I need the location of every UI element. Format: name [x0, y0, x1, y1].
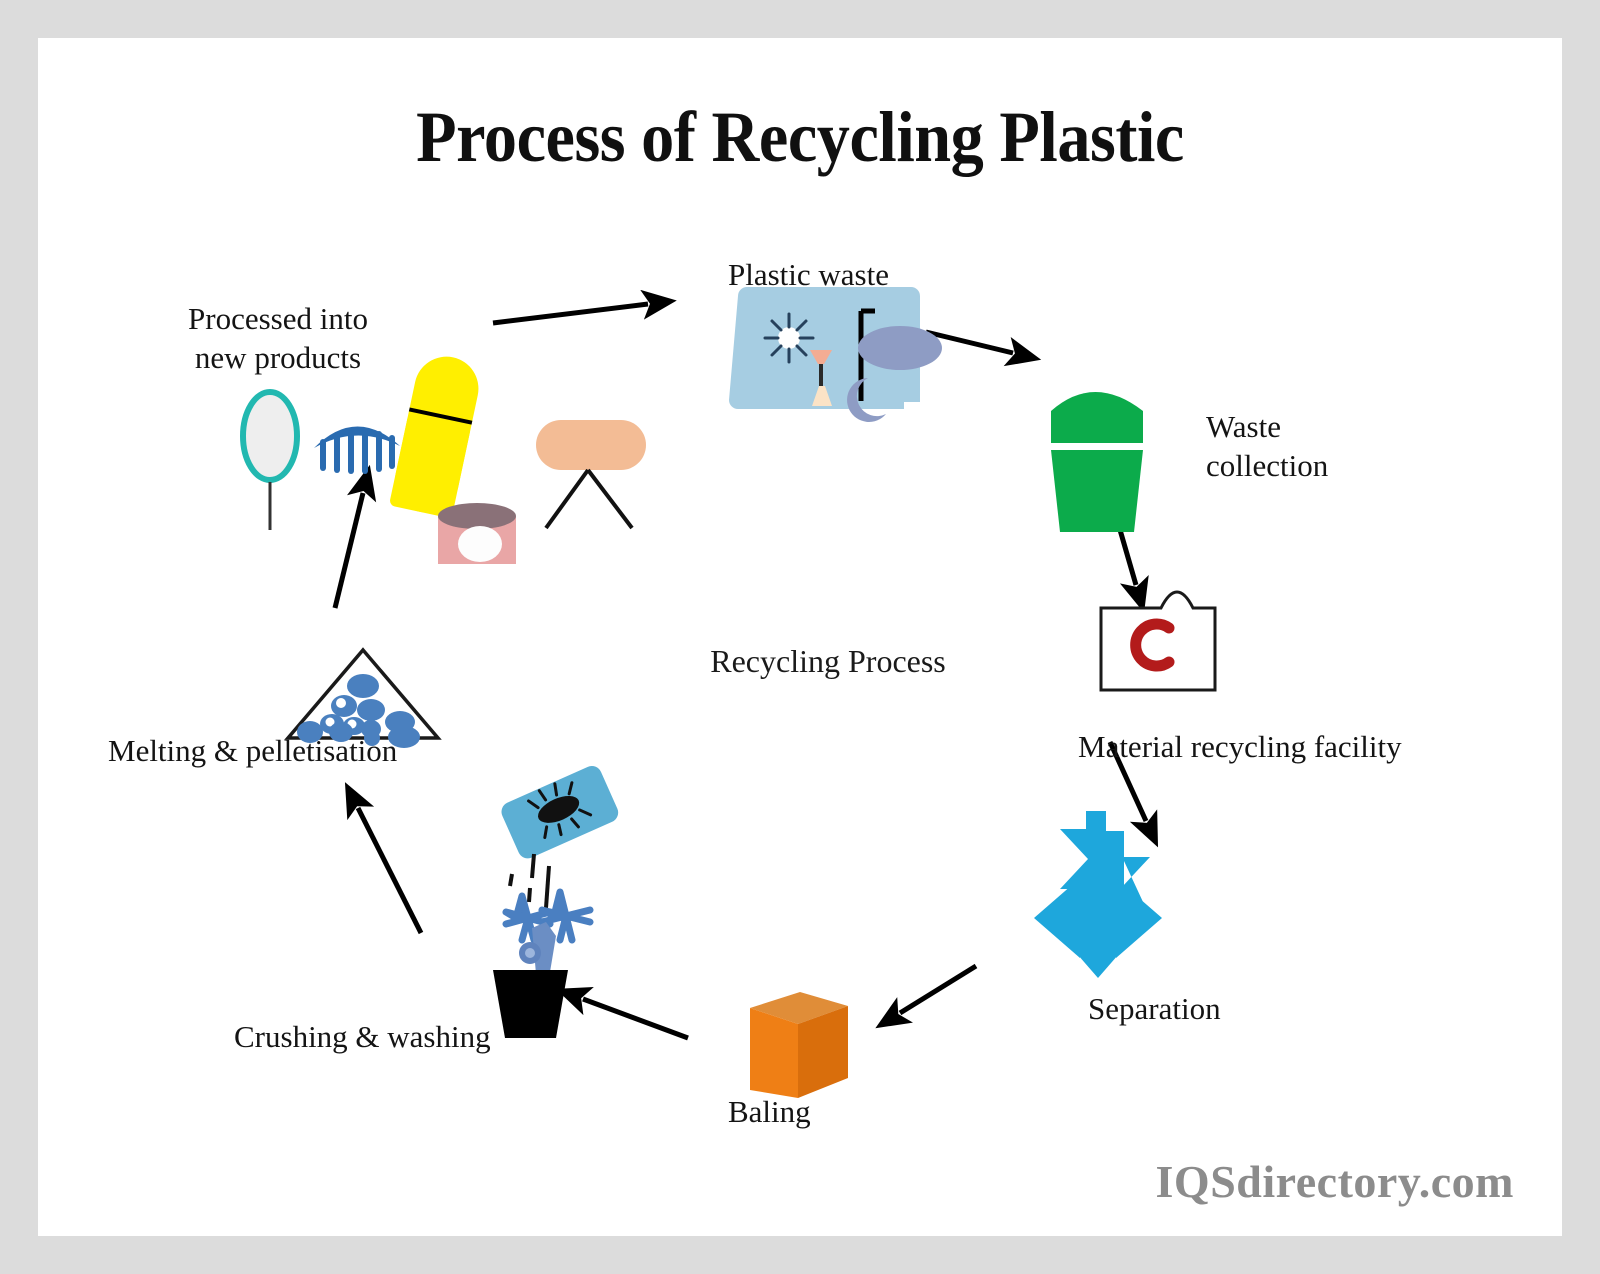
recycling-facility-box-icon[interactable] [1101, 592, 1215, 690]
arrow-baling-to-crushing [583, 999, 688, 1038]
center-label: Recycling Process [648, 643, 1008, 680]
starburst-icon [765, 314, 813, 362]
falling-drops [510, 854, 549, 908]
label-melting-pelletisation: Melting & pelletisation [108, 732, 397, 771]
orange-bale-cube-icon[interactable] [750, 992, 848, 1098]
facility-box [1101, 592, 1215, 690]
green-waste-bin-icon[interactable] [1051, 392, 1143, 532]
label-material-recycling-facility: Material recycling facility [1078, 728, 1402, 767]
comb-icon [314, 426, 400, 471]
label-baling: Baling [728, 1093, 811, 1132]
four-way-arrow-icon[interactable] [1034, 811, 1162, 978]
label-separation: Separation [1088, 990, 1221, 1029]
label-crushing-washing: Crushing & washing [234, 1018, 491, 1057]
black-funnel [493, 970, 568, 1038]
arrow-crushing-to-melting [358, 808, 421, 933]
ellipse-shape [858, 326, 942, 370]
new-products-group-icon[interactable] [243, 351, 646, 564]
label-waste-collection: Waste collection [1206, 408, 1406, 486]
plastic-waste-panel-icon[interactable] [729, 276, 942, 422]
arrow-separation-to-baling [900, 966, 976, 1013]
diagram-canvas: Process of Recycling Plastic [38, 38, 1562, 1236]
label-processed-new-products: Processed into new products [148, 300, 408, 378]
label-line-1: Waste [1206, 409, 1281, 444]
label-line-1: Processed into [188, 301, 368, 336]
crushing-washing-icon[interactable] [493, 763, 621, 1038]
label-line-2: new products [195, 340, 361, 375]
mirror-icon [243, 392, 297, 530]
peach-table-icon [536, 420, 646, 528]
arrow-melting-to-products [335, 493, 363, 608]
bin-lid [1051, 392, 1143, 443]
label-plastic-waste: Plastic waste [728, 256, 889, 295]
label-line-2: collection [1206, 448, 1328, 483]
page-title: Process of Recycling Plastic [99, 96, 1501, 179]
pink-jar-icon [438, 503, 516, 564]
diagram-page: Process of Recycling Plastic [0, 0, 1600, 1274]
arrow-products-to-waste [493, 304, 648, 323]
watermark: IQSdirectory.com [1156, 1155, 1514, 1208]
four-way-arrow-cross [1034, 858, 1162, 978]
bin-body [1051, 450, 1143, 532]
